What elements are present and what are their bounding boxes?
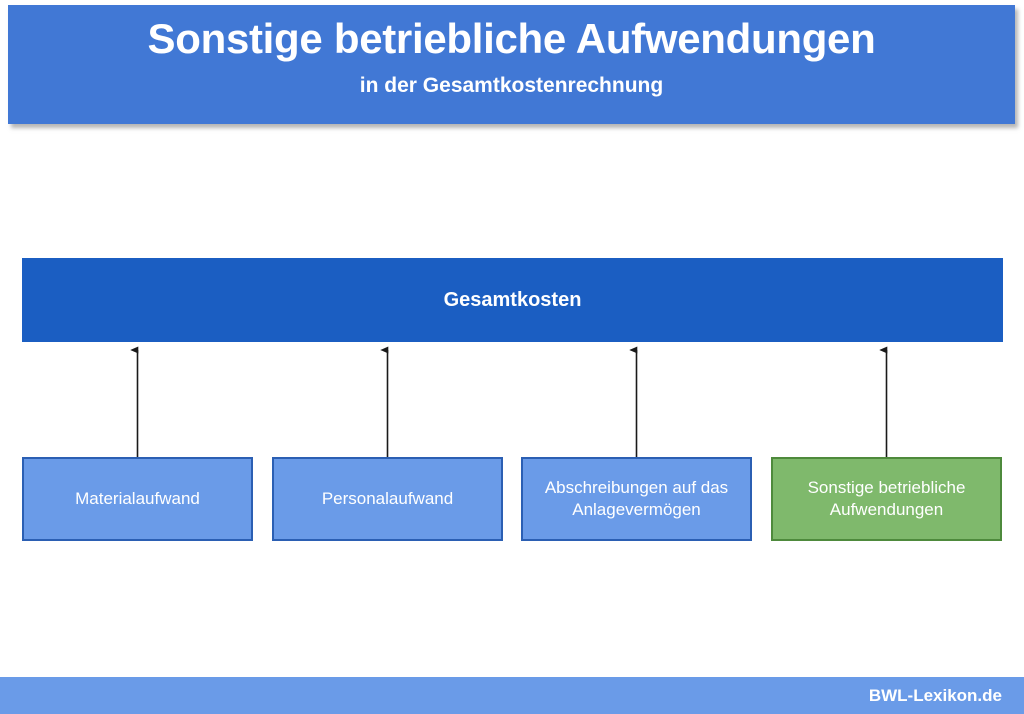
connector-arrows xyxy=(0,0,1024,714)
footer-brand-label: BWL-Lexikon.de xyxy=(869,686,1002,706)
diagram-node-label: Personalaufwand xyxy=(322,488,453,510)
diagram-node-label: Gesamtkosten xyxy=(444,289,582,312)
footer-band: BWL-Lexikon.de xyxy=(0,677,1024,714)
diagram-canvas: Gesamtkosten Materialaufwand Personalauf… xyxy=(0,0,1024,714)
diagram-node-abschreibungen: Abschreibungen auf das Anlagevermögen xyxy=(521,457,752,541)
diagram-node-personalaufwand: Personalaufwand xyxy=(272,457,503,541)
diagram-node-materialaufwand: Materialaufwand xyxy=(22,457,253,541)
diagram-node-sonstige-betriebliche-aufwendungen: Sonstige betriebliche Aufwendungen xyxy=(771,457,1002,541)
diagram-node-label: Materialaufwand xyxy=(75,488,200,510)
diagram-node-gesamtkosten: Gesamtkosten xyxy=(22,258,1003,342)
diagram-node-label: Abschreibungen auf das Anlagevermögen xyxy=(531,477,742,522)
diagram-node-label: Sonstige betriebliche Aufwendungen xyxy=(781,477,992,522)
